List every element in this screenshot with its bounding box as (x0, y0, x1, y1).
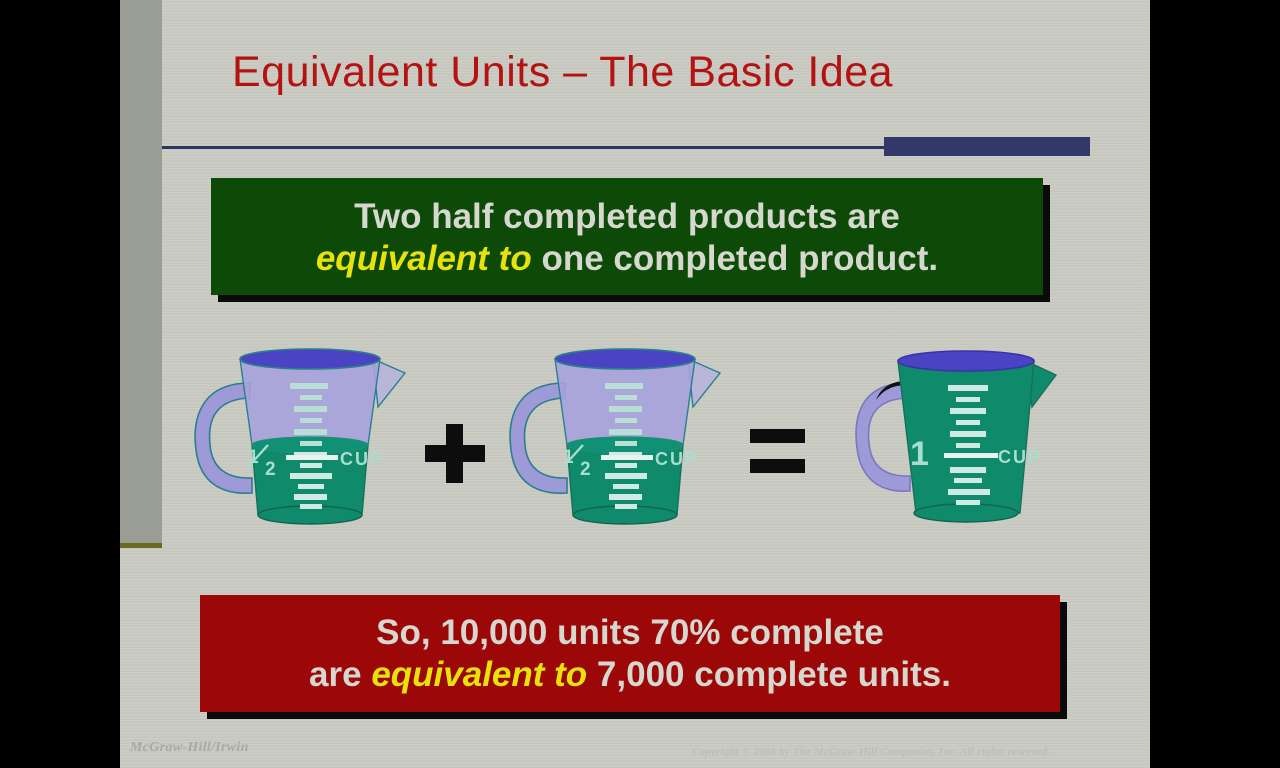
title-underline-rule (162, 146, 886, 149)
red-callout-line-1: So, 10,000 units 70% complete (376, 612, 884, 653)
measuring-cup-3: 1 CUP (850, 345, 1070, 550)
green-callout-line-2: equivalent to one completed product. (316, 238, 938, 279)
red-callout-emphasis: equivalent to (371, 655, 587, 694)
svg-text:2: 2 (265, 459, 276, 480)
footer-copyright: Copyright © 2008 by The McGraw-Hill Comp… (692, 746, 1050, 758)
svg-text:CUP: CUP (998, 447, 1042, 467)
red-callout-box: So, 10,000 units 70% complete are equiva… (200, 595, 1060, 712)
measuring-cup-icon: 1 2 CUP (505, 345, 735, 545)
measuring-cup-1: 1 2 CUP (190, 345, 420, 550)
red-callout-line-2: are equivalent to 7,000 complete units. (309, 654, 951, 695)
red-callout-line2-prefix: are (309, 655, 371, 694)
measuring-cup-icon: 1 2 CUP (190, 345, 420, 545)
left-band-accent-line (120, 543, 162, 548)
equals-icon-top-bar (750, 429, 805, 443)
plus-icon-vertical-bar (446, 424, 463, 483)
measuring-cup-2: 1 2 CUP (505, 345, 735, 550)
equals-icon-bottom-bar (750, 459, 805, 473)
footer-publisher: McGraw-Hill/Irwin (130, 740, 249, 756)
green-callout-emphasis: equivalent to (316, 239, 532, 278)
green-callout-line2-suffix: one completed product. (532, 239, 938, 278)
slide-title: Equivalent Units – The Basic Idea (232, 48, 1052, 97)
title-accent-block (884, 137, 1090, 156)
svg-text:CUP: CUP (655, 449, 699, 469)
svg-text:CUP: CUP (340, 449, 384, 469)
svg-text:1: 1 (910, 435, 929, 473)
left-decorative-band (120, 0, 162, 543)
measuring-cup-icon: 1 CUP (850, 345, 1070, 545)
svg-text:2: 2 (580, 459, 591, 480)
slide-root: Equivalent Units – The Basic Idea Two ha… (0, 0, 1280, 768)
red-callout-line2-suffix: 7,000 complete units. (587, 655, 951, 694)
equivalent-units-illustration: 1 2 CUP + (160, 345, 1110, 555)
green-callout-line-1: Two half completed products are (354, 196, 900, 237)
green-callout-box: Two half completed products are equivale… (211, 178, 1043, 295)
